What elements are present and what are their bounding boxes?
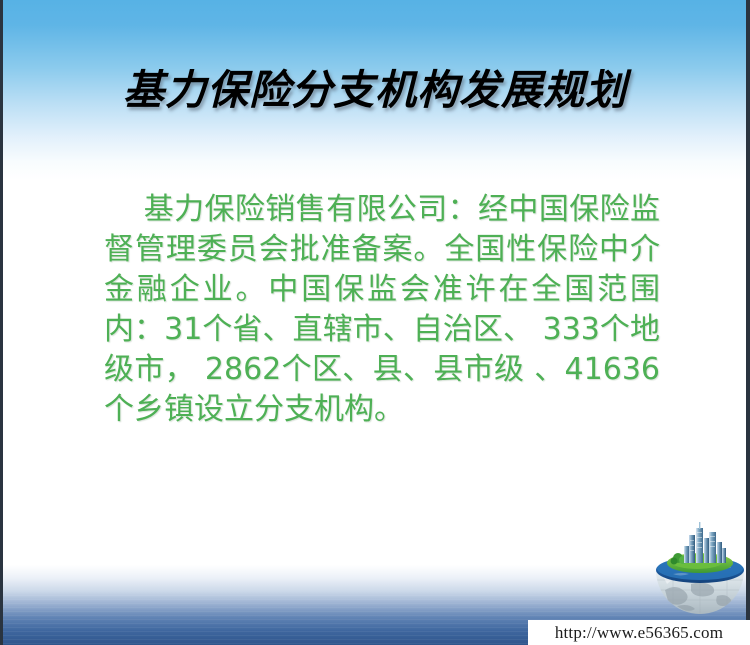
- slide-right-border: [746, 0, 750, 645]
- globe-city-icon: [653, 518, 747, 618]
- slide-body-text: 基力保险销售有限公司：经中国保险监督管理委员会批准备案。全国性保险中介金融企业。…: [104, 190, 660, 430]
- presentation-slide: 基力保险分支机构发展规划 基力保险销售有限公司：经中国保险监督管理委员会批准备案…: [0, 0, 750, 645]
- watermark-url: http://www.e56365.com: [555, 623, 723, 643]
- slide-left-border: [0, 0, 3, 645]
- slide-title: 基力保险分支机构发展规划: [0, 56, 750, 116]
- watermark-overlay: http://www.e56365.com: [528, 620, 750, 645]
